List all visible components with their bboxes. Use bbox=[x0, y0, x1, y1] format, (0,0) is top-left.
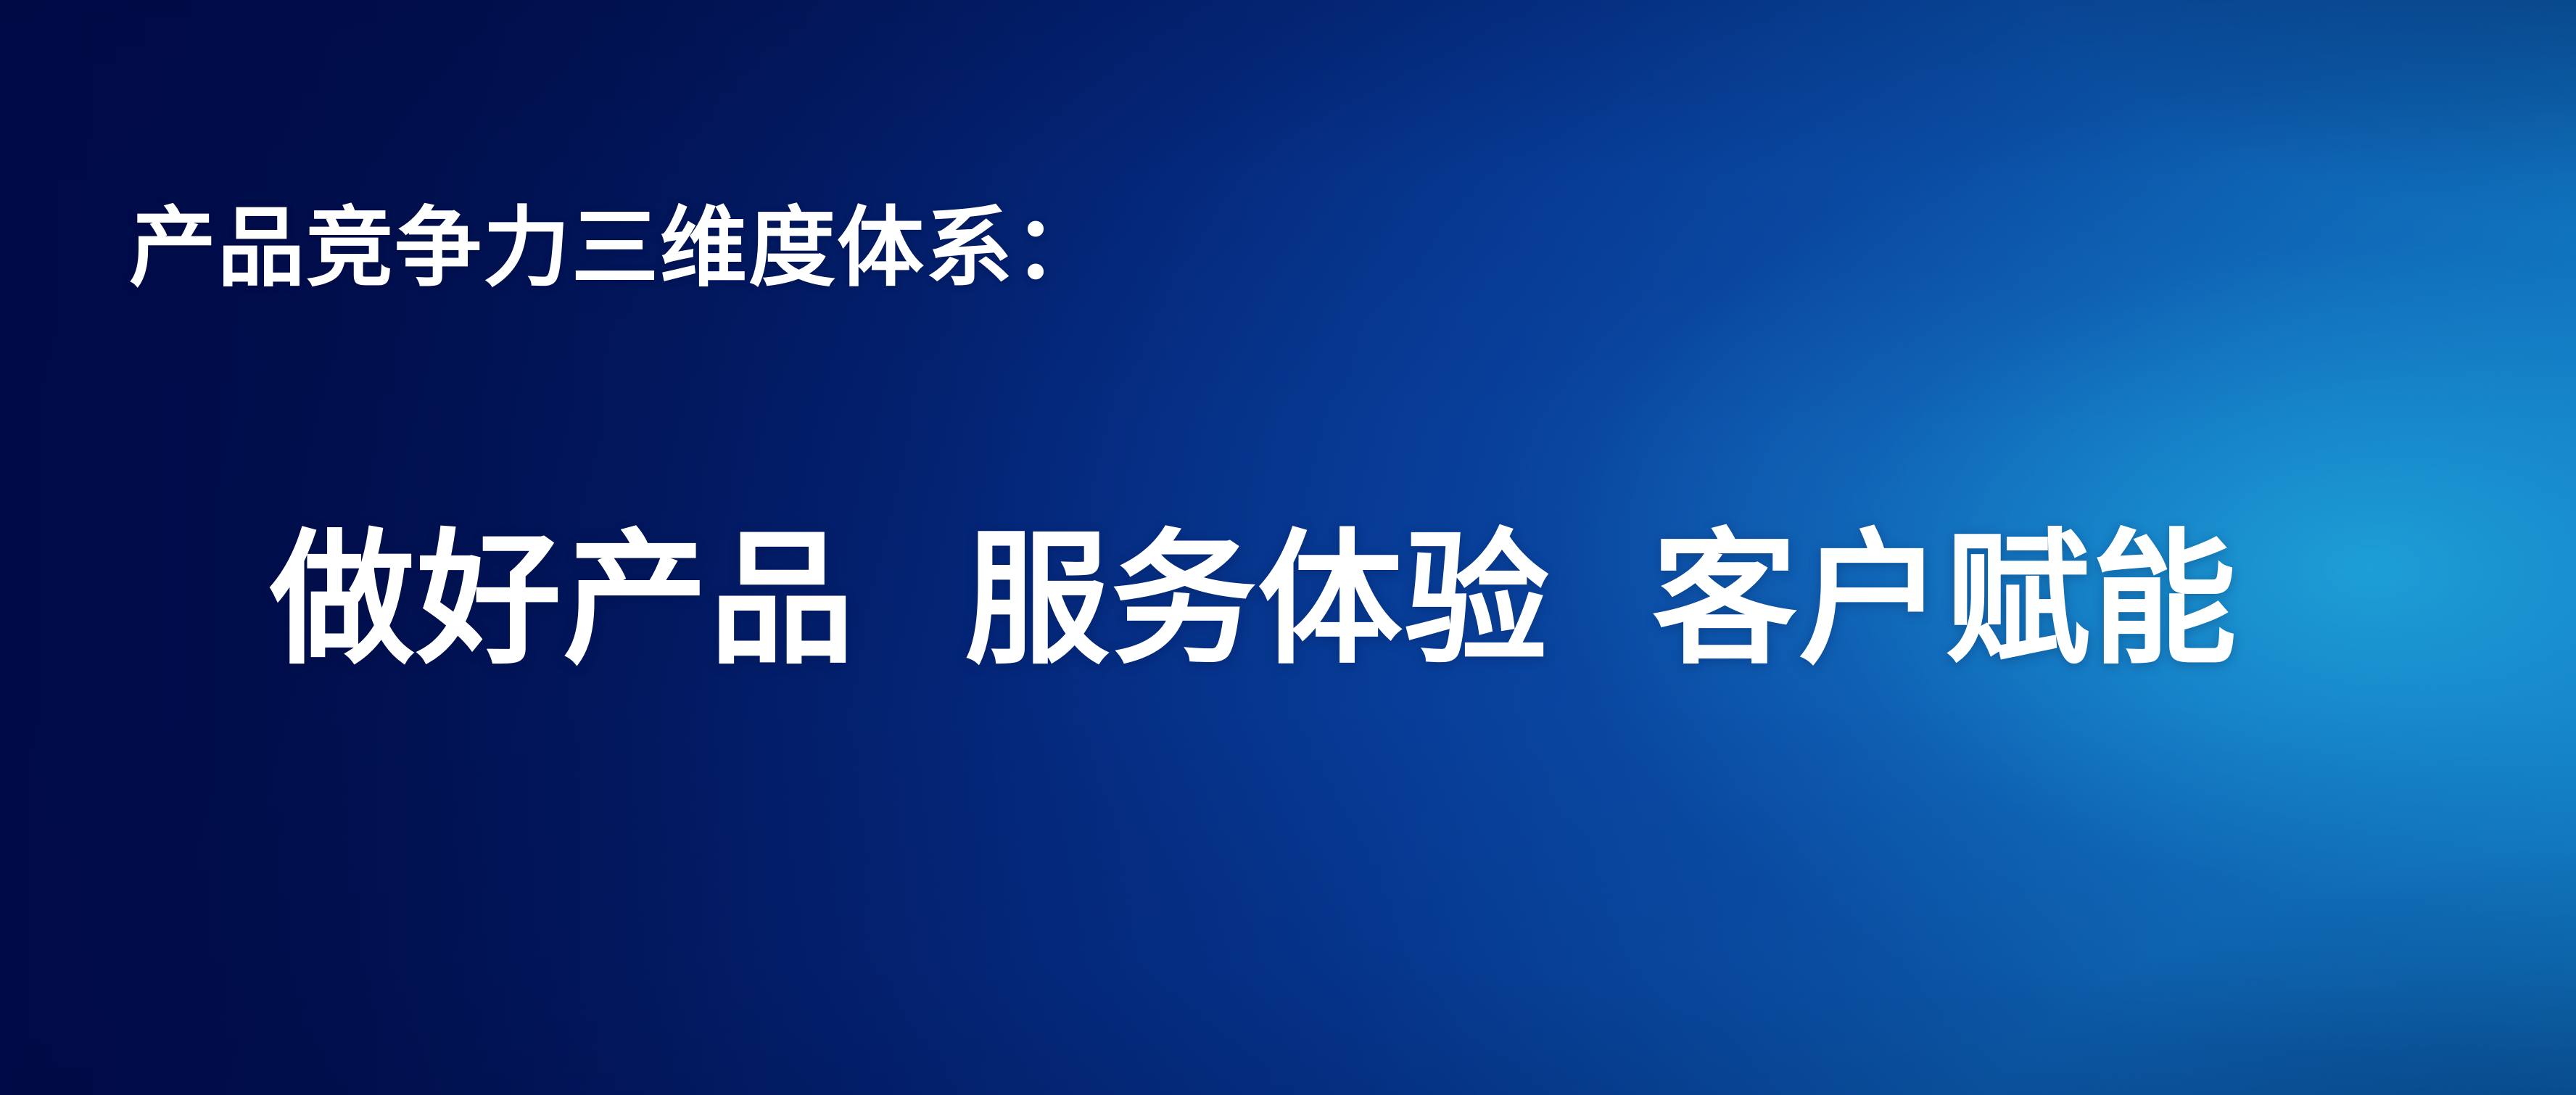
headline-row: 做好产品 服务体验 客户赋能 bbox=[270, 528, 2238, 673]
headline-item-service: 服务体验 bbox=[965, 528, 1551, 673]
slide-title: 产品竞争力三维度体系： bbox=[129, 197, 1102, 300]
slide-content: 产品竞争力三维度体系： 做好产品 服务体验 客户赋能 bbox=[0, 0, 2576, 1095]
headline-item-customer: 客户赋能 bbox=[1652, 528, 2238, 673]
slide-canvas: 产品竞争力三维度体系： 做好产品 服务体验 客户赋能 bbox=[0, 0, 2576, 1095]
headline-item-product: 做好产品 bbox=[270, 528, 856, 673]
